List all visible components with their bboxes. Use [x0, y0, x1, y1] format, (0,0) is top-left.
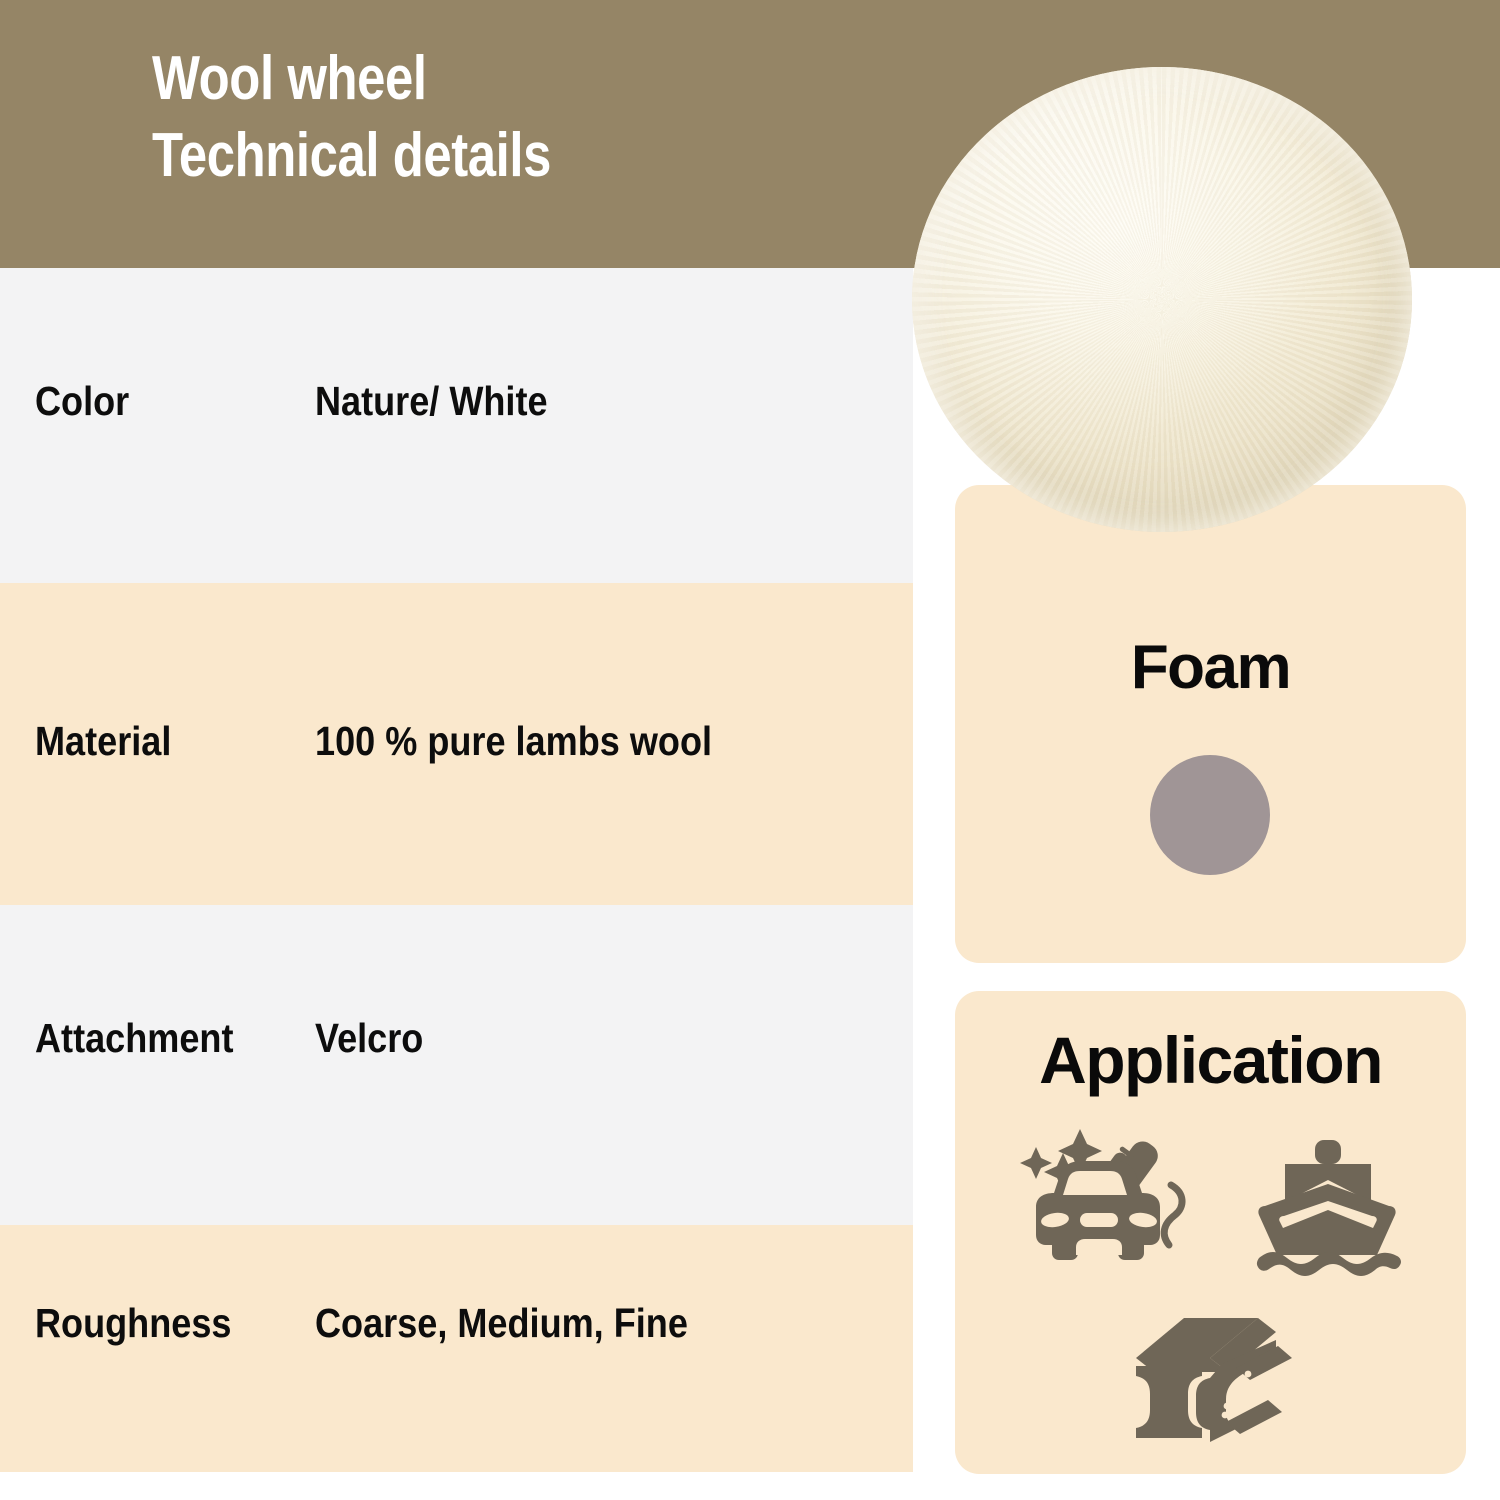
ship-icon	[1253, 1128, 1403, 1278]
application-icon-bottom-row	[955, 1310, 1466, 1460]
spec-value: Nature/ White	[315, 378, 548, 425]
table-row: Roughness Coarse, Medium, Fine	[0, 1225, 913, 1472]
spec-value: 100 % pure lambs wool	[315, 718, 712, 765]
spec-value: Coarse, Medium, Fine	[315, 1300, 688, 1347]
spec-value: Velcro	[315, 1015, 423, 1062]
wool-polishing-pad-photo	[912, 67, 1412, 532]
table-row: Material 100 % pure lambs wool	[0, 583, 913, 905]
page-title: Wool wheel Technical details	[152, 40, 551, 194]
spec-label: Roughness	[35, 1300, 231, 1347]
spec-table: Color Nature/ White Material 100 % pure …	[0, 268, 913, 1472]
application-icon-row	[955, 1120, 1466, 1285]
spec-label: Color	[35, 378, 129, 425]
steel-beam-icon	[1126, 1310, 1296, 1455]
table-row: Color Nature/ White	[0, 268, 913, 583]
spec-label: Material	[35, 718, 171, 765]
infographic-canvas: Wool wheel Technical details Color Natur…	[0, 0, 1500, 1500]
spec-label: Attachment	[35, 1015, 233, 1062]
foam-disc-swatch	[1150, 755, 1270, 875]
car-wash-icon	[1018, 1123, 1198, 1283]
foam-card-title: Foam	[955, 632, 1466, 703]
table-row: Attachment Velcro	[0, 905, 913, 1225]
foam-card	[955, 485, 1466, 963]
application-card-title: Application	[955, 1022, 1466, 1098]
